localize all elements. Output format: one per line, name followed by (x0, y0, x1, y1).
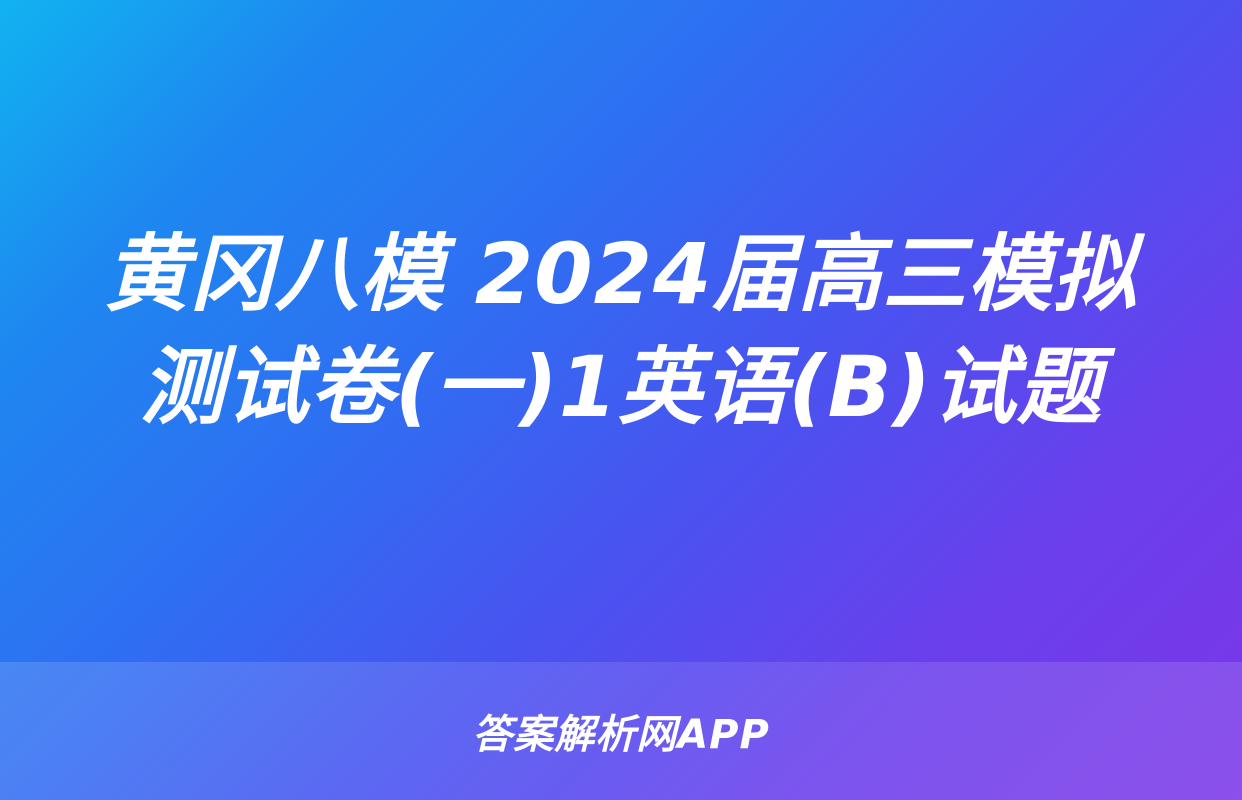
promo-banner: 黄冈八模 2024届高三模拟测试卷(一)1英语(B)试题 答案解析网APP (0, 0, 1242, 800)
title-area: 黄冈八模 2024届高三模拟测试卷(一)1英语(B)试题 (0, 0, 1242, 662)
footer-area: 答案解析网APP (0, 662, 1242, 800)
app-brand-label: 答案解析网APP (472, 702, 770, 760)
banner-title: 黄冈八模 2024届高三模拟测试卷(一)1英语(B)试题 (70, 218, 1172, 443)
